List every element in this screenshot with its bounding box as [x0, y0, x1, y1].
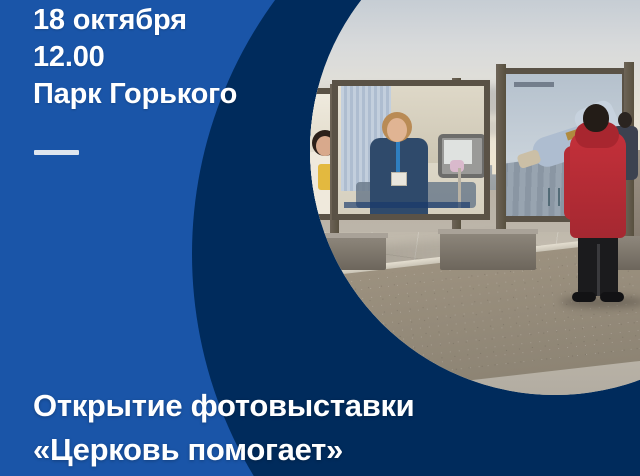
visitor-head — [583, 104, 609, 132]
panel-center-nurse-face — [387, 118, 407, 142]
visitor-shoe-left — [572, 292, 596, 302]
visitor-leg-gap — [597, 244, 600, 296]
frame-post-3 — [496, 64, 506, 256]
panel-center-iv-bag — [450, 160, 464, 172]
panel-center-image — [338, 86, 484, 214]
event-date: 18 октября — [33, 2, 333, 39]
event-title-line-1: Открытие фотовыставки — [33, 384, 633, 428]
event-details-block: 18 октября 12.00 Парк Горького — [33, 2, 333, 113]
photo-scene — [310, 0, 640, 395]
divider-rule — [34, 150, 79, 155]
poster-canvas: 18 октября 12.00 Парк Горького Открытие … — [0, 0, 640, 476]
panel-center-badge — [391, 172, 407, 186]
plinth-center — [440, 232, 536, 270]
event-venue: Парк Горького — [33, 76, 333, 113]
event-title-block: Открытие фотовыставки «Церковь помогает» — [33, 384, 633, 472]
plinth-left — [312, 236, 386, 270]
panel-right-caption-mark — [514, 82, 554, 87]
event-time: 12.00 — [33, 39, 333, 76]
panel-center-lanyard — [396, 140, 400, 174]
visitor-shoe-right — [600, 292, 624, 302]
exhibition-photo — [310, 0, 640, 395]
plinth-left-top — [310, 233, 388, 238]
event-title-line-2: «Церковь помогает» — [33, 428, 633, 472]
plinth-center-top — [438, 229, 538, 234]
exhibit-panel-center — [332, 80, 490, 220]
panel-center-caption-strip — [344, 202, 470, 208]
background-person-head — [618, 112, 632, 128]
